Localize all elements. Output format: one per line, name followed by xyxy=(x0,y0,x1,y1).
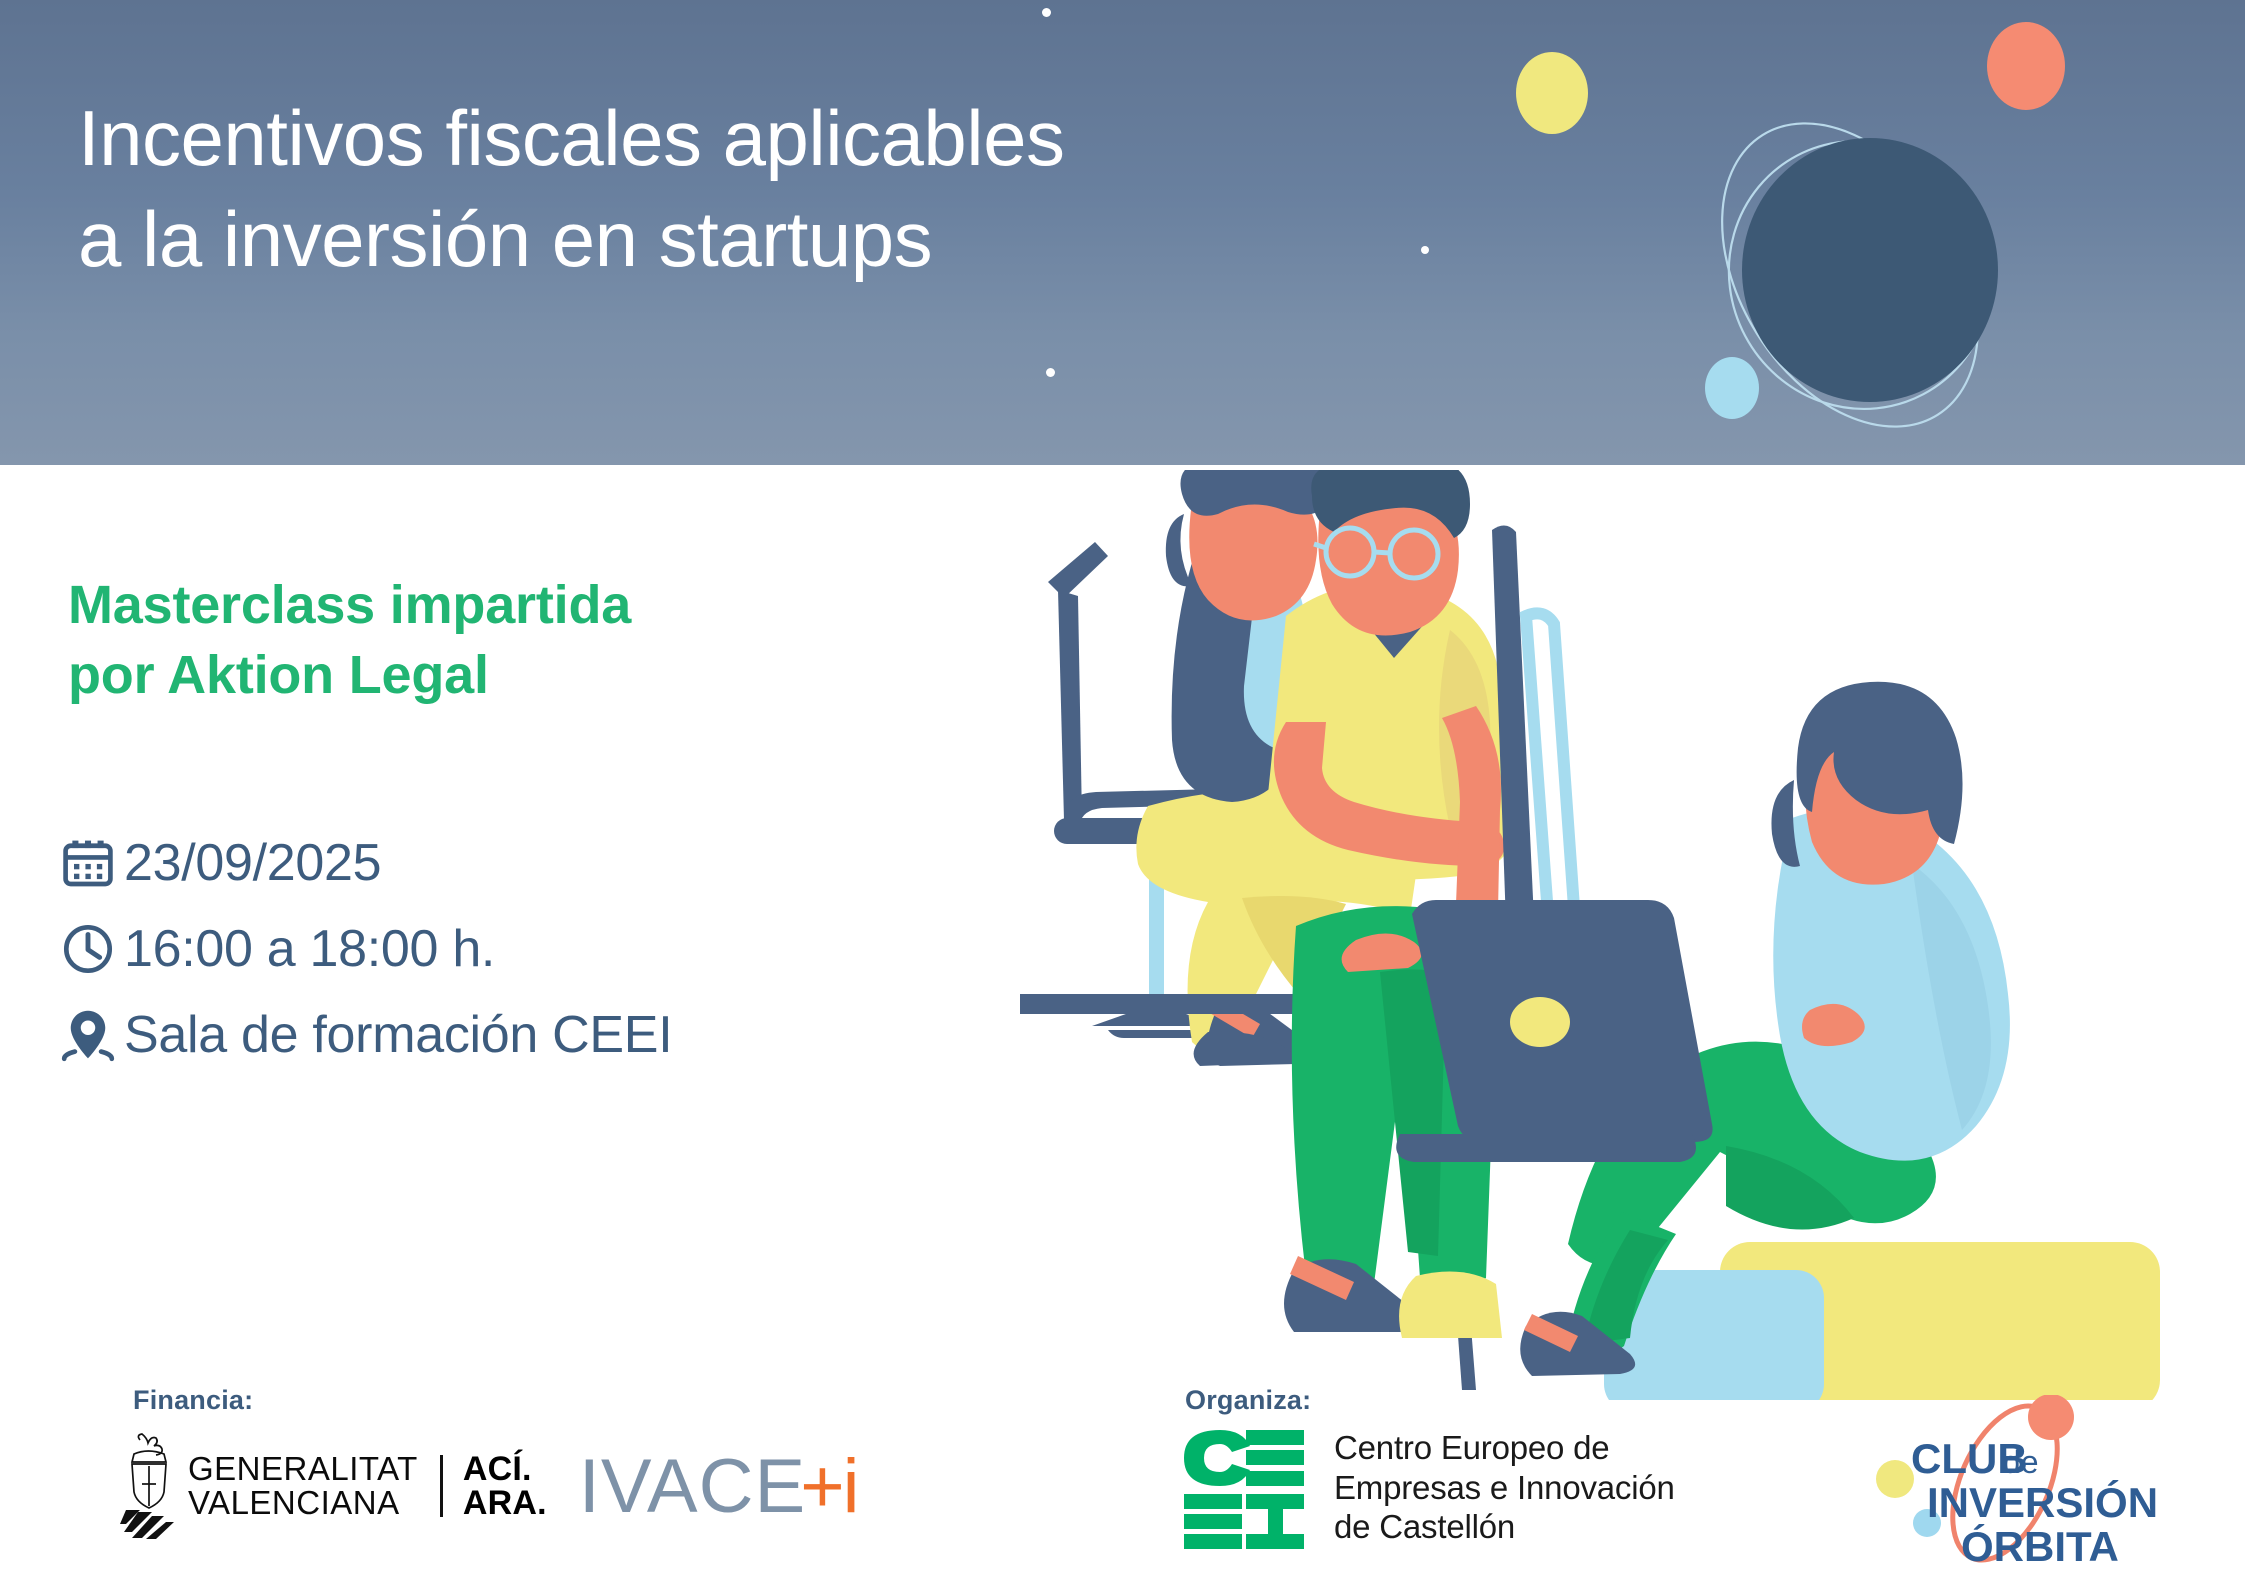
logo-divider xyxy=(440,1455,443,1517)
list-item-time: 16:00 a 18:00 h. xyxy=(60,906,672,992)
star-dot xyxy=(1046,368,1055,377)
event-date: 23/09/2025 xyxy=(124,833,381,893)
people-working-illustration xyxy=(1020,470,2230,1400)
event-location: Sala de formación CEEI xyxy=(124,1005,672,1065)
ivace-plus-i: +i xyxy=(800,1443,857,1530)
generalitat-valenciana-logo: GENERALITAT VALENCIANA xyxy=(120,1432,418,1540)
gva-coat-of-arms-icon xyxy=(120,1432,178,1540)
club-dot-yellow xyxy=(1876,1460,1914,1498)
list-item-date: 23/09/2025 xyxy=(60,820,672,906)
list-item-location: Sala de formación CEEI xyxy=(60,992,672,1078)
gva-name: GENERALITAT VALENCIANA xyxy=(188,1452,418,1519)
orbit-graphic xyxy=(1380,0,2245,465)
desktop-monitor xyxy=(1486,525,1600,946)
club-inversion-orbita-logo: CLUB de INVERSIÓN ÓRBITA xyxy=(1855,1395,2215,1575)
ivace-wordmark: IVACE xyxy=(579,1443,806,1530)
financia-logos: GENERALITAT VALENCIANA ACÍ. ARA. IVACE +… xyxy=(120,1432,857,1540)
ceei-logo-icon xyxy=(1180,1428,1306,1550)
calendar-icon xyxy=(60,835,124,891)
club-dot-coral xyxy=(2028,1395,2074,1440)
organiza-label: Organiza: xyxy=(1185,1385,1311,1416)
financia-label: Financia: xyxy=(133,1385,253,1416)
clock-icon xyxy=(60,921,124,977)
event-time: 16:00 a 18:00 h. xyxy=(124,919,495,979)
masterclass-subtitle: Masterclass impartida por Aktion Legal xyxy=(68,570,631,710)
event-details-list: 23/09/2025 16:00 a 18:00 h. Sala de form… xyxy=(60,820,672,1078)
aci-ara-slogan: ACÍ. ARA. xyxy=(463,1452,547,1520)
orbit-planet xyxy=(1742,138,1998,402)
orbit-dot-coral xyxy=(1987,22,2065,110)
star-dot xyxy=(1042,8,1051,17)
club-line2: INVERSIÓN xyxy=(1927,1478,2158,1526)
location-pin-icon xyxy=(60,1007,124,1063)
ceei-logos: Centro Europeo de Empresas e Innovación … xyxy=(1180,1428,1675,1550)
ceei-full-name: Centro Europeo de Empresas e Innovación … xyxy=(1334,1428,1675,1547)
poster-header: Incentivos fiscales aplicables a la inve… xyxy=(0,0,2245,465)
orbit-dot-yellow xyxy=(1516,52,1588,134)
page-title: Incentivos fiscales aplicables a la inve… xyxy=(78,88,1065,291)
orbit-dot-cyan xyxy=(1705,357,1759,419)
ivace-logo: IVACE +i xyxy=(579,1443,858,1530)
club-line1-de: de xyxy=(2003,1444,2039,1480)
club-line3: ÓRBITA xyxy=(1961,1522,2119,1570)
